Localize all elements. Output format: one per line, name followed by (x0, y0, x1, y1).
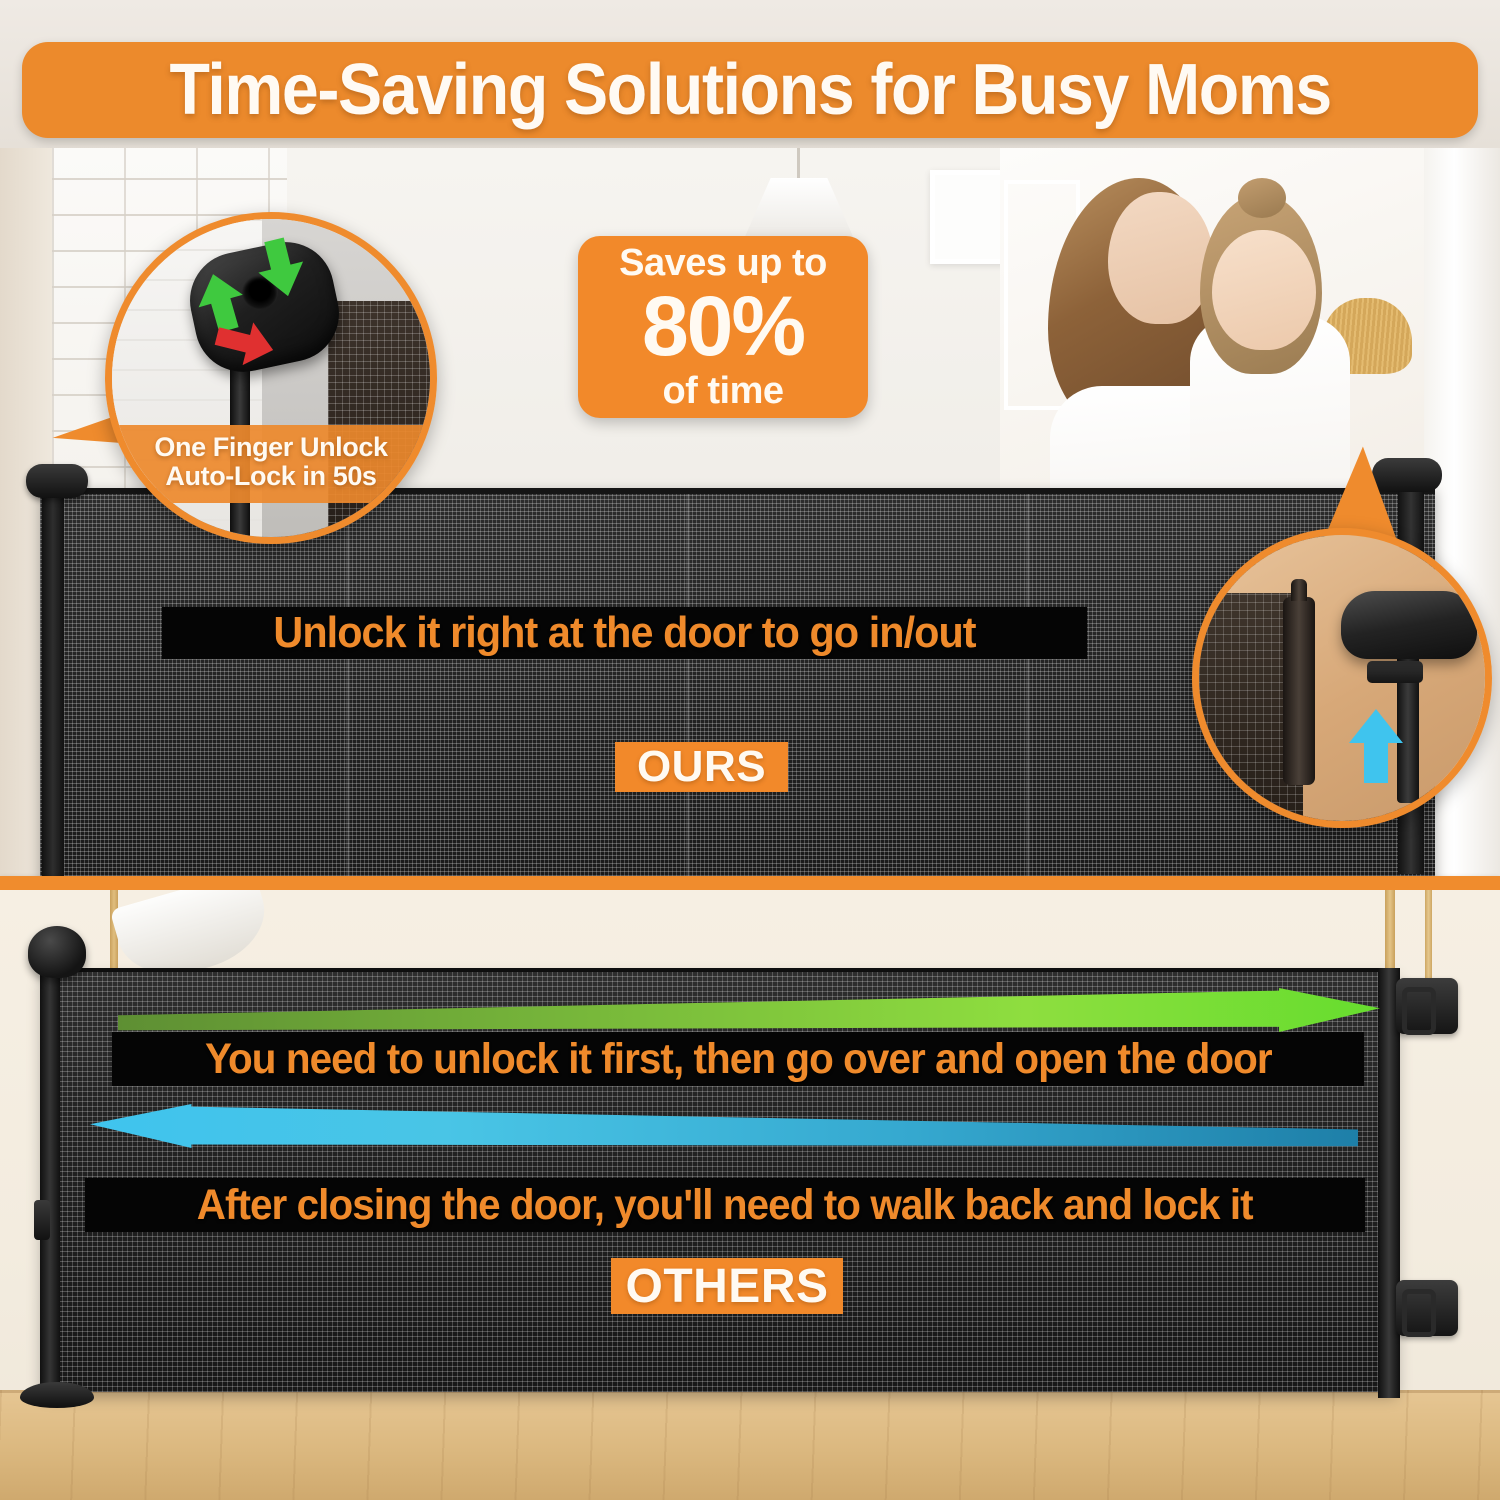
gate-post-right-bottom (1378, 968, 1400, 1398)
child-face (1212, 230, 1316, 350)
mother-face (1108, 192, 1213, 324)
callout-left-caption: One Finger Unlock Auto-Lock in 50s (112, 425, 430, 503)
ours-label-chip: OURS (615, 742, 788, 792)
gate-post-left-bottom (40, 974, 60, 1394)
callout-left-caption-line2: Auto-Lock in 50s (112, 462, 430, 491)
others-message-band-2: After closing the door, you'll need to w… (85, 1178, 1365, 1232)
others-label-chip: OTHERS (611, 1258, 843, 1314)
callout-latch-closeup (1192, 528, 1492, 828)
blue-arrow-up-icon (1345, 705, 1407, 785)
ours-message-text: Unlock it right at the door to go in/out (273, 608, 975, 658)
others-message-text-2: After closing the door, you'll need to w… (197, 1181, 1253, 1230)
gate-mesh-zoom-left (328, 301, 437, 544)
callout-left-caption-line1: One Finger Unlock (112, 433, 430, 462)
savings-badge-bottom-line: of time (662, 372, 783, 410)
child-hair-bun (1238, 178, 1286, 218)
page-title: Time-Saving Solutions for Busy Moms (169, 54, 1330, 126)
panel-divider (0, 876, 1500, 890)
gate-clip-left (34, 1200, 50, 1240)
header-banner: Time-Saving Solutions for Busy Moms (22, 42, 1478, 138)
latch-pin (1283, 597, 1315, 785)
latch-crossbar (1367, 661, 1423, 683)
lock-housing-zoom-right (1341, 591, 1477, 659)
gate-knob-left-bottom (28, 926, 86, 978)
others-message-text-1: You need to unlock it first, then go ove… (205, 1035, 1272, 1084)
gate-knob-left-top (26, 464, 88, 498)
wall-bracket-bottom (1396, 1280, 1458, 1336)
wall-bracket-top (1396, 978, 1458, 1034)
gate-base-left-bottom (20, 1382, 94, 1408)
ours-label-text: OURS (637, 742, 766, 792)
gate-post-left-top (42, 492, 64, 880)
savings-badge-value: 80% (642, 282, 804, 371)
savings-badge-top-line: Saves up to (619, 244, 827, 282)
latch-pin-top (1291, 579, 1307, 601)
ours-message-band: Unlock it right at the door to go in/out (162, 607, 1087, 659)
red-arrow-right-icon (212, 319, 278, 367)
wood-floor (0, 1390, 1500, 1500)
product-marketing-image: Time-Saving Solutions for Busy Moms (0, 0, 1500, 1500)
savings-badge: Saves up to 80% of time (578, 236, 868, 418)
lamp-pole-right-b (1425, 890, 1432, 978)
pendant-cord (797, 148, 800, 182)
lamp-pole-right-a (1385, 890, 1395, 976)
callout-one-finger-unlock: One Finger Unlock Auto-Lock in 50s (105, 212, 437, 544)
green-arrow-down-icon (254, 235, 308, 299)
others-message-band-1: You need to unlock it first, then go ove… (112, 1032, 1364, 1086)
others-label-text: OTHERS (625, 1259, 828, 1314)
